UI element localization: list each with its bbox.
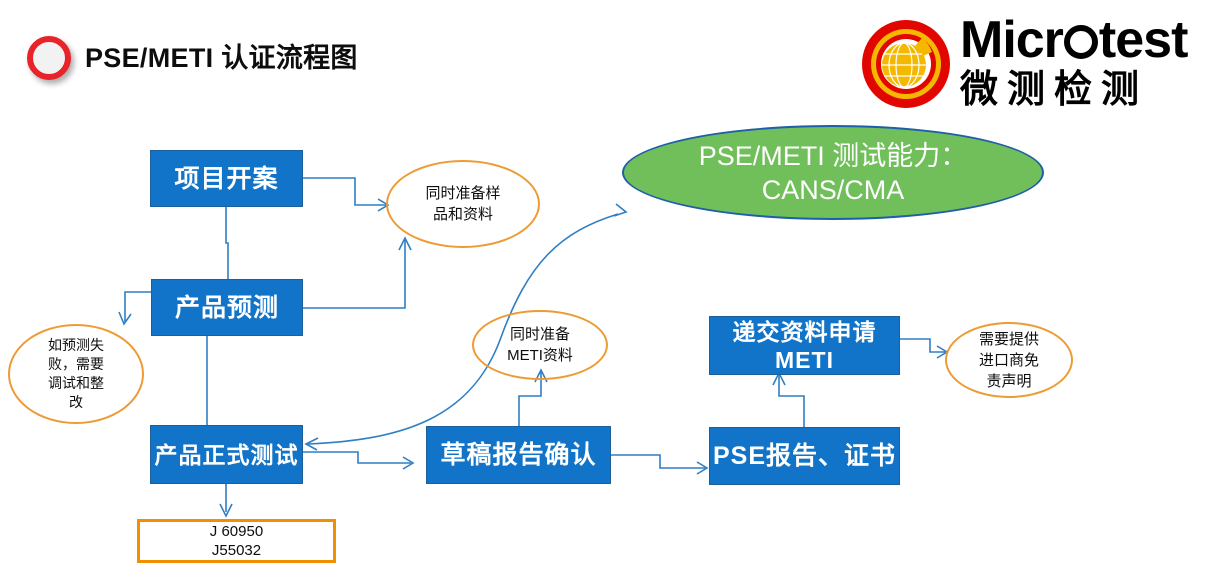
- note-line-4: 改: [48, 393, 104, 412]
- node-project-kickoff[interactable]: 项目开案: [150, 150, 303, 207]
- note-line-1: 同时准备样: [425, 183, 500, 204]
- node-label: 项目开案: [174, 164, 278, 194]
- capability-ellipse[interactable]: PSE/METI 测试能力： CANS/CMA: [622, 125, 1044, 220]
- page-title: PSE/METI 认证流程图: [85, 36, 358, 80]
- note-retry-ellipse[interactable]: 如预测失 败，需要 调试和整 改: [8, 324, 144, 424]
- red-ring-icon: [27, 36, 71, 80]
- standards-line-1: J 60950: [210, 522, 263, 541]
- node-label: 产品预测: [175, 293, 279, 323]
- node-label: 草稿报告确认: [440, 440, 596, 470]
- node-product-pretest[interactable]: 产品预测: [151, 279, 303, 336]
- note-line-2: 品和资料: [425, 204, 500, 225]
- standards-line-2: J55032: [212, 541, 261, 560]
- node-draft-report[interactable]: 草稿报告确认: [426, 426, 611, 484]
- note-line-2: 进口商免: [979, 350, 1039, 371]
- note-line-2: 败，需要: [48, 355, 104, 374]
- note-line-1: 需要提供: [979, 329, 1039, 350]
- node-submit-meti[interactable]: 递交资料申请 METI: [709, 316, 900, 375]
- note-samples-ellipse[interactable]: 同时准备样 品和资料: [386, 160, 540, 248]
- note-line-3: 调试和整: [48, 374, 104, 393]
- note-line-1: 同时准备: [507, 324, 573, 345]
- node-label: PSE报告、证书: [713, 441, 896, 471]
- microtest-logo: Micrtest 微测检测: [860, 8, 1200, 116]
- note-line-2: METI资料: [507, 345, 573, 366]
- note-importer-ellipse[interactable]: 需要提供 进口商免 责声明: [945, 322, 1073, 398]
- node-label: 递交资料申请 METI: [733, 318, 877, 374]
- logo-wordmark: Micrtest: [960, 14, 1200, 66]
- logo-wordmark-pre: Micr: [960, 11, 1063, 69]
- globe-ring-logo-icon: [860, 18, 952, 110]
- node-pse-report[interactable]: PSE报告、证书: [709, 427, 900, 485]
- standards-box[interactable]: J 60950 J55032: [137, 519, 336, 563]
- capability-line-2: CANS/CMA: [699, 173, 968, 207]
- note-meti-docs-ellipse[interactable]: 同时准备 METI资料: [472, 310, 608, 380]
- note-line-3: 责声明: [979, 371, 1039, 392]
- logo-wordmark-post: test: [1099, 11, 1187, 69]
- logo-o-ring-icon: [1064, 25, 1098, 59]
- note-line-1: 如预测失: [48, 336, 104, 355]
- capability-line-1: PSE/METI 测试能力：: [699, 139, 968, 173]
- slide-canvas: PSE/METI 认证流程图 Micrtest 微测检测: [0, 0, 1214, 583]
- node-label: 产品正式测试: [155, 441, 299, 469]
- node-formal-test[interactable]: 产品正式测试: [150, 425, 303, 484]
- logo-subtitle: 微测检测: [960, 68, 1210, 112]
